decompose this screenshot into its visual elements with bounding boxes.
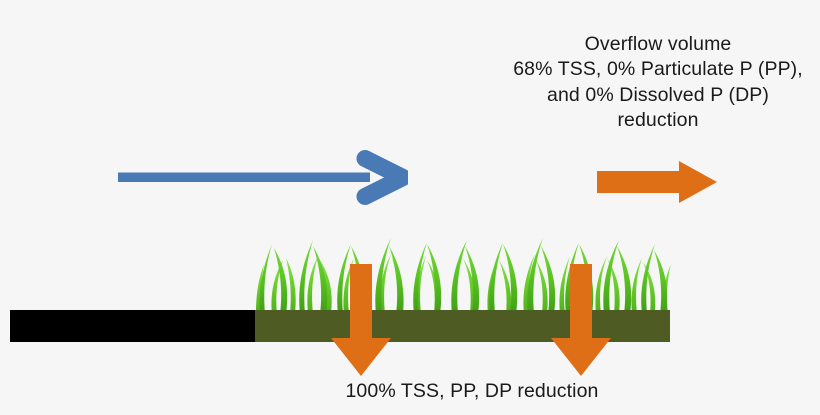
infiltration-arrow-left-icon: [329, 262, 393, 378]
infiltration-arrow-right-icon: [549, 262, 613, 378]
impervious-pipe-bar: [10, 310, 263, 342]
overflow-arrow-icon: [595, 160, 719, 204]
overflow-annotation-text: Overflow volume 68% TSS, 0% Particulate …: [490, 32, 820, 133]
inflow-arrow-icon: [116, 150, 408, 208]
diagram-canvas: Overflow volume 68% TSS, 0% Particulate …: [0, 0, 820, 415]
infiltration-annotation-text: 100% TSS, PP, DP reduction: [320, 379, 624, 404]
